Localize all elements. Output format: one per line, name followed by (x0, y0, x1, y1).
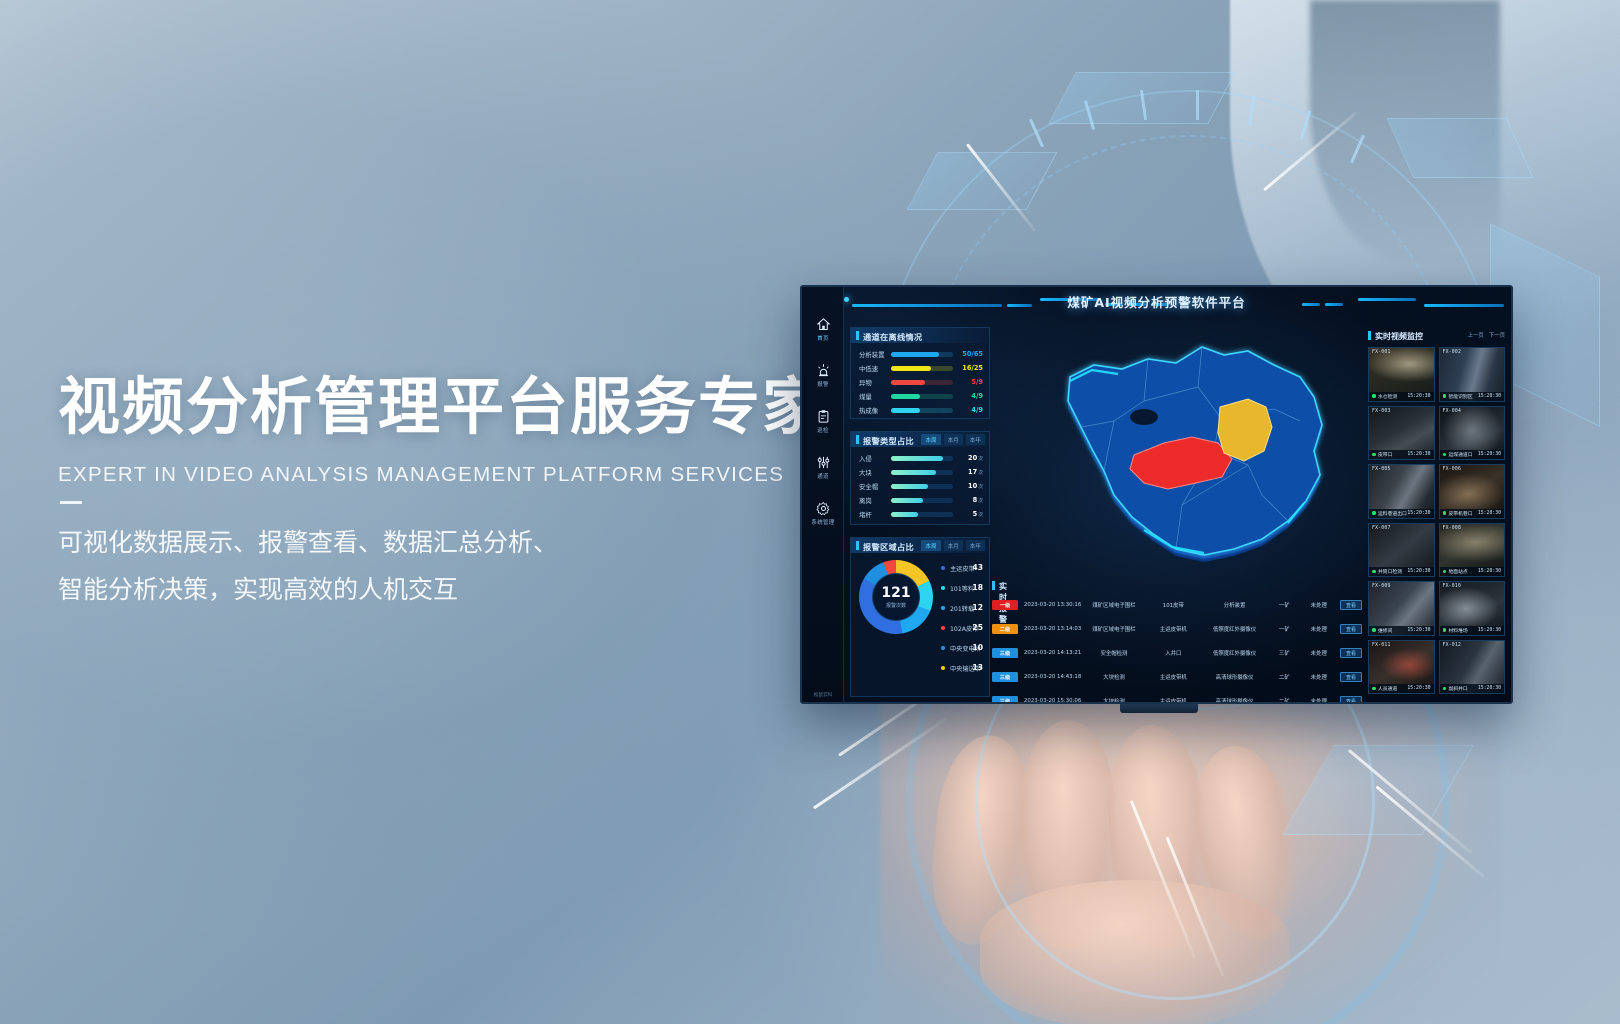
alarm-type-row: 入侵 20次 (859, 452, 983, 465)
alarm-type-value: 10次 (955, 482, 983, 490)
next-page-button[interactable]: 下一页 (1489, 331, 1505, 339)
video-tile-code: FX-012 (1443, 643, 1462, 648)
alarm-mine: 三矿 (1267, 649, 1301, 657)
view-button[interactable]: 查看 (1340, 672, 1362, 682)
video-tile-footer: 人员通道 15:20:30 (1369, 684, 1434, 693)
channel-row-label: 中低速 (859, 364, 889, 373)
video-tile-time: 15:20:30 (1478, 511, 1501, 516)
alarm-type: 煤矿区域电子围栏 (1083, 625, 1144, 633)
video-tile-code: FX-008 (1443, 526, 1462, 531)
alarm-channel: 低照度红外摄像仪 (1202, 649, 1267, 657)
hero-description-line-1: 可视化数据展示、报警查看、数据汇总分析、 (58, 520, 826, 566)
status-dot (1443, 511, 1447, 515)
video-tile-name: 人员通道 (1378, 685, 1397, 692)
header-accent-bar (992, 581, 995, 590)
donut-legend-item: 201转载 12 (941, 602, 985, 613)
alarm-type-label: 大块 (859, 468, 889, 477)
video-tile-time: 15:20:30 (1478, 394, 1501, 399)
hero-subtitle: EXPERT IN VIDEO ANALYSIS MANAGEMENT PLAT… (58, 463, 826, 487)
channel-row-track (891, 380, 953, 385)
alarm-mine: 二矿 (1267, 673, 1301, 681)
legend-label: 主运皮带 (950, 564, 975, 573)
channel-row-fill (891, 352, 939, 357)
video-tile-name: 地面站点 (1449, 568, 1468, 575)
legend-value: 10 (972, 643, 983, 652)
channel-row-fill (891, 380, 925, 385)
tab-week[interactable]: 本周 (921, 434, 940, 445)
sidebar-item-alarm[interactable]: 报警 (802, 363, 844, 388)
alarm-mine: 一矿 (1267, 601, 1301, 609)
tab-month[interactable]: 本月 (944, 540, 963, 551)
video-tile[interactable]: FX-012 副斜井口 15:20:30 (1439, 640, 1506, 695)
video-tile-name: 智能识别区 (1449, 393, 1473, 400)
channel-row-track (891, 352, 953, 357)
alarm-light-icon (816, 363, 831, 378)
donut-total-label: 报警次数 (886, 602, 906, 609)
video-tile-time: 15:20:30 (1478, 628, 1501, 633)
video-tile-name: 运煤通道口 (1449, 451, 1473, 458)
sidebar-item-system[interactable]: 系统管理 (802, 501, 844, 526)
sidebar-item-system-label: 系统管理 (802, 518, 844, 526)
table-row[interactable]: 三级 2023-03-20 14:13:21 安全帽检测 入井口 低照度红外摄像… (992, 644, 1362, 662)
tab-year[interactable]: 本年 (966, 540, 985, 551)
status-dot (1372, 511, 1376, 515)
video-tile-footer: 副斜井口 15:20:30 (1440, 684, 1505, 693)
video-tile-time: 15:20:30 (1407, 569, 1430, 574)
header-accent-bar (856, 541, 859, 550)
province-map[interactable] (1052, 325, 1352, 575)
video-tile-name: 运料巷道出口 (1378, 510, 1407, 517)
video-tile-name: 副斜井口 (1449, 685, 1468, 692)
dashboard-sidebar: 首页 报警 巡检 (802, 287, 844, 702)
hero-description-line-2: 智能分析决策，实现高效的人机交互 (58, 567, 826, 613)
home-icon (816, 317, 831, 332)
legend-label: 101等料 (950, 584, 974, 593)
alarm-type-row: 大块 17次 (859, 466, 983, 479)
gear-icon (816, 501, 831, 516)
donut-legend-item: 主运皮带 43 (941, 562, 985, 573)
status-dot (1372, 687, 1376, 691)
channel-row-fill (891, 408, 920, 413)
video-tile-code: FX-007 (1372, 526, 1391, 531)
legend-value: 13 (972, 663, 983, 672)
donut-center: 121 报警次数 (872, 573, 920, 621)
realtime-alarm-table: 实时报警 一级 2023-03-20 13:30:16 煤矿区域电子围栏 101… (992, 579, 1362, 696)
alarm-status: 未处理 (1302, 673, 1336, 681)
alarm-device: 入井口 (1145, 649, 1202, 657)
video-tile-footer: 运煤通道口 15:20:30 (1440, 450, 1505, 459)
legend-dot (941, 586, 945, 590)
video-tile-name: 皮带机巷口 (1449, 510, 1473, 517)
video-tile-footer: 水仓检测 15:20:30 (1369, 392, 1434, 401)
view-button[interactable]: 查看 (1340, 696, 1362, 704)
video-tile-code: FX-006 (1443, 467, 1462, 472)
video-tile[interactable]: FX-006 皮带机巷口 15:20:30 (1439, 464, 1506, 519)
video-tile[interactable]: FX-003 皮带口 15:20:30 (1368, 406, 1435, 461)
alarm-area-donut: 121 报警次数 (859, 560, 933, 634)
table-row[interactable]: 一级 2023-03-20 13:30:16 煤矿区域电子围栏 101皮带 分析… (992, 596, 1362, 614)
video-tile-footer: 材料堆场 15:20:30 (1440, 626, 1505, 635)
monitor-stand (1120, 704, 1198, 713)
alarm-type-fill (891, 470, 936, 475)
video-tile[interactable]: FX-005 运料巷道出口 15:20:30 (1368, 464, 1435, 519)
view-button[interactable]: 查看 (1340, 600, 1362, 610)
alarm-channel: 分析装置 (1202, 601, 1267, 609)
channel-row-value: 4/9 (955, 406, 983, 414)
sidebar-item-channel[interactable]: 通道 (802, 455, 844, 480)
alarm-time: 2023-03-20 13:30:16 (1024, 602, 1083, 608)
channel-row-value: 50/65 (955, 350, 983, 358)
video-tile[interactable]: FX-007 井筒口检测 15:20:30 (1368, 523, 1435, 578)
sidebar-item-inspection-label: 巡检 (802, 426, 844, 434)
video-tile[interactable]: FX-001 水仓检测 15:20:30 (1368, 347, 1435, 402)
channel-row: 中低速 16/25 (859, 362, 983, 375)
alarm-area-title: 报警区域占比 (863, 541, 914, 553)
video-tile-time: 15:20:30 (1407, 628, 1430, 633)
status-badge: 一级 (992, 600, 1018, 610)
video-tile-code: FX-004 (1443, 409, 1462, 414)
sidebar-item-alarm-label: 报警 (802, 380, 844, 388)
alarm-type-track (891, 512, 953, 517)
alarm-mine: 二矿 (1267, 697, 1301, 704)
alarm-type-track (891, 484, 953, 489)
channel-status-title: 通道在离线情况 (863, 331, 922, 343)
channel-row-fill (891, 394, 920, 399)
legend-value: 18 (972, 583, 983, 592)
status-dot (1443, 687, 1447, 691)
status-dot (1443, 453, 1447, 457)
video-panel-header: 实时视频监控 上一页 下一页 (1368, 329, 1505, 343)
alarm-status: 未处理 (1302, 697, 1336, 704)
alarm-type-value: 8次 (955, 496, 983, 504)
channel-row-value: 5/9 (955, 378, 983, 386)
alarm-type-value: 5次 (955, 510, 983, 518)
legend-dot (941, 646, 945, 650)
video-tile-footer: 智能识别区 15:20:30 (1440, 392, 1505, 401)
tab-week[interactable]: 本周 (921, 540, 940, 551)
alarm-area-panel: 报警区域占比 本周 本月 本年 121 报警次数 主运皮带 43 (850, 537, 990, 697)
hero-text-block: 视频分析管理平台服务专家 EXPERT IN VIDEO ANALYSIS MA… (58, 372, 826, 613)
legend-value: 12 (972, 603, 983, 612)
status-dot (1372, 394, 1376, 398)
alarm-type-fill (891, 484, 928, 489)
table-row[interactable]: 二级 2023-03-20 13:14:03 煤矿区域电子围栏 主运皮带机 低照… (992, 620, 1362, 638)
alarm-mine: 一矿 (1267, 625, 1301, 633)
video-tile-time: 15:20:30 (1407, 394, 1430, 399)
status-dot (1372, 453, 1376, 457)
alarm-type: 煤矿区域电子围栏 (1083, 601, 1144, 609)
status-dot (1443, 628, 1447, 632)
channel-row-label: 热成像 (859, 406, 889, 415)
video-tile-name: 井筒口检测 (1378, 568, 1402, 575)
channel-row-label: 煤量 (859, 392, 889, 401)
video-tile-name: 皮带口 (1378, 451, 1392, 458)
donut-legend-item: 中央输送带 13 (941, 662, 985, 673)
video-tile[interactable]: FX-004 运煤通道口 15:20:30 (1439, 406, 1506, 461)
status-badge: 三级 (992, 672, 1018, 682)
channel-row-value: 16/25 (955, 364, 983, 372)
alarm-time: 2023-03-20 14:13:21 (1024, 650, 1083, 656)
donut-legend-item: 102A皮带 25 (941, 622, 985, 633)
channel-status-panel: 通道在离线情况 分析装置 50/65 中低速 16/25 异物 (850, 327, 990, 419)
sidebar-item-channel-label: 通道 (802, 472, 844, 480)
channel-row-track (891, 394, 953, 399)
header-accent-bar (1368, 331, 1371, 340)
sidebar-item-home-label: 首页 (802, 334, 844, 342)
video-tile-footer: 井筒口检测 15:20:30 (1369, 567, 1434, 576)
alarm-device: 主运皮带机 (1145, 673, 1202, 681)
table-row[interactable]: 三级 2023-03-20 15:30:06 大块检测 主运皮带机 高清球形摄像… (992, 692, 1362, 704)
alarm-channel: 高清球形摄像仪 (1202, 673, 1267, 681)
header-accent-bar (856, 331, 859, 340)
video-tile-time: 15:20:30 (1478, 569, 1501, 574)
clipboard-check-icon (816, 409, 831, 424)
alarm-device: 101皮带 (1145, 601, 1202, 609)
alarm-type-tabs: 本周 本月 本年 (921, 434, 985, 445)
alarm-time: 2023-03-20 15:30:06 (1024, 698, 1083, 704)
video-tile-time: 15:20:30 (1478, 452, 1501, 457)
alarm-type-fill (891, 498, 923, 503)
video-tile-code: FX-009 (1372, 584, 1391, 589)
footer-brand-label: 松鼠云科 (806, 692, 840, 698)
channel-status-header: 通道在离线情况 (851, 328, 989, 343)
table-row[interactable]: 三级 2023-03-20 14:43:18 大块检测 主运皮带机 高清球形摄像… (992, 668, 1362, 686)
alarm-type-panel: 报警类型占比 本周 本月 本年 入侵 20次 大块 17次 (850, 431, 990, 525)
alarm-type-row: 安全帽 10次 (859, 480, 983, 493)
video-tile-footer: 皮带口 15:20:30 (1369, 450, 1434, 459)
status-dot (1443, 570, 1447, 574)
channel-row: 分析装置 50/65 (859, 348, 983, 361)
video-pagination: 上一页 下一页 (1468, 331, 1505, 339)
video-tile-code: FX-011 (1372, 643, 1391, 648)
alarm-type: 大块检测 (1083, 697, 1144, 704)
map-svg (1052, 325, 1352, 575)
alarm-type-title: 报警类型占比 (863, 435, 914, 447)
video-tile-code: FX-003 (1372, 409, 1391, 414)
donut-legend-item: 中央变电所 10 (941, 642, 985, 653)
alarm-type-track (891, 470, 953, 475)
alarm-type-label: 入侵 (859, 454, 889, 463)
channel-row-track (891, 408, 953, 413)
video-tile-code: FX-001 (1372, 350, 1391, 355)
video-panel-title: 实时视频监控 (1375, 331, 1423, 342)
alarm-time: 2023-03-20 13:14:03 (1024, 626, 1083, 632)
video-tile-footer: 皮带机巷口 15:20:30 (1440, 509, 1505, 518)
donut-legend-item: 101等料 18 (941, 582, 985, 593)
alarm-type: 大块检测 (1083, 673, 1144, 681)
hero-divider (60, 501, 82, 504)
alarm-area-tabs: 本周 本月 本年 (921, 540, 985, 551)
page-title: 视频分析管理平台服务专家 (58, 372, 826, 441)
status-badge: 三级 (992, 696, 1018, 704)
alarm-type-value: 17次 (955, 468, 983, 476)
video-tile-code: FX-002 (1443, 350, 1462, 355)
alarm-channel: 高清球形摄像仪 (1202, 697, 1267, 704)
prev-page-button[interactable]: 上一页 (1468, 331, 1484, 339)
channel-row: 异物 5/9 (859, 376, 983, 389)
tab-year[interactable]: 本年 (966, 434, 985, 445)
video-tile-footer: 运料巷道出口 15:20:30 (1369, 509, 1434, 518)
view-button[interactable]: 查看 (1340, 648, 1362, 658)
dashboard-title: 煤矿AI视频分析预警软件平台 (802, 292, 1511, 311)
video-tile[interactable]: FX-011 人员通道 15:20:30 (1368, 640, 1435, 695)
alarm-type-fill (891, 456, 943, 461)
alarm-type-label: 堵杆 (859, 510, 889, 519)
status-badge: 二级 (992, 624, 1018, 634)
alarm-status: 未处理 (1302, 601, 1336, 609)
alarm-type-header: 报警类型占比 本周 本月 本年 (851, 432, 989, 447)
video-tile-name: 水仓检测 (1378, 393, 1397, 400)
video-tile-footer: 维修间 15:20:30 (1369, 626, 1434, 635)
channel-row-fill (891, 366, 931, 371)
dashboard-topbar: 煤矿AI视频分析预警软件平台 (802, 287, 1511, 321)
alarm-channel: 低照度红外摄像仪 (1202, 625, 1267, 633)
channel-row: 热成像 4/9 (859, 404, 983, 417)
video-tile-time: 15:20:30 (1478, 686, 1501, 691)
alarm-type-label: 离岗 (859, 496, 889, 505)
video-tile[interactable]: FX-010 材料堆场 15:20:30 (1439, 581, 1506, 636)
status-dot (1443, 394, 1447, 398)
video-monitor-panel: 实时视频监控 上一页 下一页 FX-001 水仓检测 15:20:30 (1368, 329, 1505, 694)
status-dot (1372, 628, 1376, 632)
alarm-type-track (891, 498, 953, 503)
channel-row-label: 分析装置 (859, 350, 889, 359)
tab-month[interactable]: 本月 (944, 434, 963, 445)
alarm-type-track (891, 456, 953, 461)
map-lake (1130, 409, 1158, 425)
glass-shard (1048, 72, 1236, 124)
channel-row-label: 异物 (859, 378, 889, 387)
alarm-device: 主运皮带机 (1145, 625, 1202, 633)
legend-dot (941, 566, 945, 570)
video-tile-name: 维修间 (1378, 627, 1392, 634)
channel-row-track (891, 366, 953, 371)
video-tile[interactable]: FX-008 地面站点 15:20:30 (1439, 523, 1506, 578)
video-tile[interactable]: FX-009 维修间 15:20:30 (1368, 581, 1435, 636)
header-accent-bar (856, 435, 859, 444)
legend-dot (941, 626, 945, 630)
status-dot (1372, 570, 1376, 574)
sidebar-item-inspection[interactable]: 巡检 (802, 409, 844, 434)
alarm-area-header: 报警区域占比 本周 本月 本年 (851, 538, 989, 553)
video-tile-time: 15:20:30 (1407, 452, 1430, 457)
legend-dot (941, 606, 945, 610)
alarm-time: 2023-03-20 14:43:18 (1024, 674, 1083, 680)
sidebar-item-home[interactable]: 首页 (802, 317, 844, 342)
video-tile-name: 材料堆场 (1449, 627, 1468, 634)
alarm-type-fill (891, 512, 918, 517)
alarm-type-row: 离岗 8次 (859, 494, 983, 507)
legend-value: 43 (972, 563, 983, 572)
donut-total-value: 121 (881, 586, 910, 600)
view-button[interactable]: 查看 (1340, 624, 1362, 634)
video-tile-time: 15:20:30 (1407, 686, 1430, 691)
dashboard-screen: 煤矿AI视频分析预警软件平台 首页 报警 (802, 287, 1511, 702)
video-tile-footer: 地面站点 15:20:30 (1440, 567, 1505, 576)
video-grid: FX-001 水仓检测 15:20:30 FX-002 智能识别区 15:20:… (1368, 347, 1505, 694)
alarm-type-row: 堵杆 5次 (859, 508, 983, 521)
legend-dot (941, 666, 945, 670)
video-tile[interactable]: FX-002 智能识别区 15:20:30 (1439, 347, 1506, 402)
channel-row: 煤量 4/9 (859, 390, 983, 403)
sliders-icon (816, 455, 831, 470)
alarm-device: 主运皮带机 (1145, 697, 1202, 704)
video-tile-code: FX-005 (1372, 467, 1391, 472)
video-tile-time: 15:20:30 (1407, 511, 1430, 516)
alarm-status: 未处理 (1302, 649, 1336, 657)
video-tile-code: FX-010 (1443, 584, 1462, 589)
legend-value: 25 (972, 623, 983, 632)
alarm-type: 安全帽检测 (1083, 649, 1144, 657)
dashboard-monitor: 煤矿AI视频分析预警软件平台 首页 报警 (800, 285, 1513, 704)
status-badge: 三级 (992, 648, 1018, 658)
alarm-type-value: 20次 (955, 454, 983, 462)
legend-label: 201转载 (950, 604, 974, 613)
channel-row-value: 4/9 (955, 392, 983, 400)
alarm-type-label: 安全帽 (859, 482, 889, 491)
alarm-status: 未处理 (1302, 625, 1336, 633)
